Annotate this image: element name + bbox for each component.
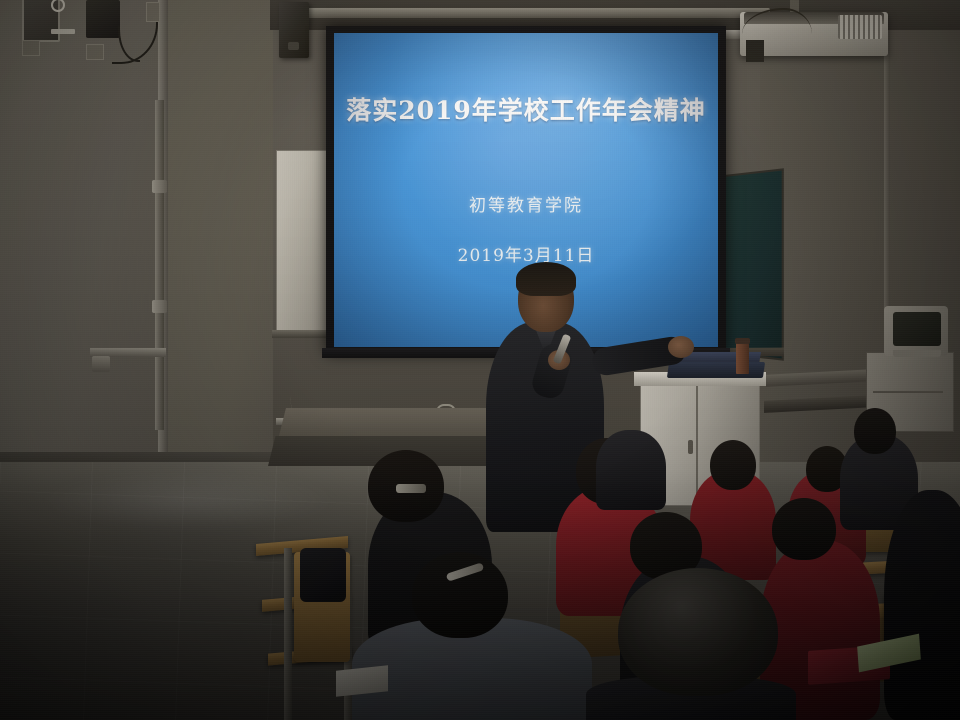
- electrical-box-icon: [22, 0, 60, 42]
- attendee-head: [854, 408, 896, 454]
- pipe-valve-icon: [92, 356, 110, 372]
- attendee-head: [772, 498, 836, 560]
- wall-socket-icon: [22, 40, 40, 56]
- projector-vents-icon: [838, 15, 882, 39]
- vertical-pipe-icon: [155, 100, 164, 430]
- handbag-icon: [300, 548, 346, 602]
- crt-monitor-base: [893, 350, 941, 357]
- ceiling-rail: [300, 8, 770, 18]
- attendee-head: [710, 440, 756, 490]
- classroom-photo-scene: 落实2019年学校工作年会精神 初等教育学院 2019年3月11日: [0, 0, 960, 720]
- wall-control-unit-icon[interactable]: [276, 150, 328, 334]
- thermos-icon: [736, 342, 749, 374]
- podium-door-seam: [696, 386, 698, 501]
- wall-speaker-icon: [279, 2, 309, 58]
- wall-socket-icon: [86, 44, 104, 60]
- crt-monitor-icon: [884, 306, 948, 356]
- slide-title: 落实2019年学校工作年会精神: [334, 91, 718, 127]
- control-unit-shelf: [272, 330, 332, 338]
- crt-screen: [893, 312, 941, 346]
- desk-leg: [284, 548, 292, 720]
- floor-reflection: [40, 470, 340, 530]
- eyeglasses-icon: [396, 484, 426, 493]
- presenter-hair: [516, 262, 576, 296]
- attendee-torso: [596, 430, 666, 510]
- speaker-badge-icon: [288, 42, 299, 50]
- wall-column: [168, 0, 273, 470]
- slide-date: 2019年3月11日: [334, 241, 718, 266]
- attendee-torso: [884, 490, 960, 720]
- paper-sheet-icon: [336, 665, 388, 696]
- thermos-cap-icon: [735, 338, 750, 344]
- projector-bracket: [746, 40, 764, 62]
- left-wall-panel: [0, 0, 160, 470]
- attendee-head: [618, 568, 778, 696]
- slide-subtitle: 初等教育学院: [334, 191, 718, 216]
- laptop-base[interactable]: [667, 362, 765, 378]
- presenter-right-hand: [668, 336, 694, 358]
- electrical-box-slot-icon: [51, 29, 75, 34]
- pipe-joint-icon: [152, 300, 167, 313]
- pipe-joint-icon: [152, 180, 167, 193]
- wall-socket-icon: [146, 2, 160, 22]
- attendee-head: [412, 552, 508, 638]
- chalkboard: [724, 168, 784, 361]
- podium-handle-icon[interactable]: [688, 440, 693, 454]
- cabinet-seam: [873, 391, 943, 393]
